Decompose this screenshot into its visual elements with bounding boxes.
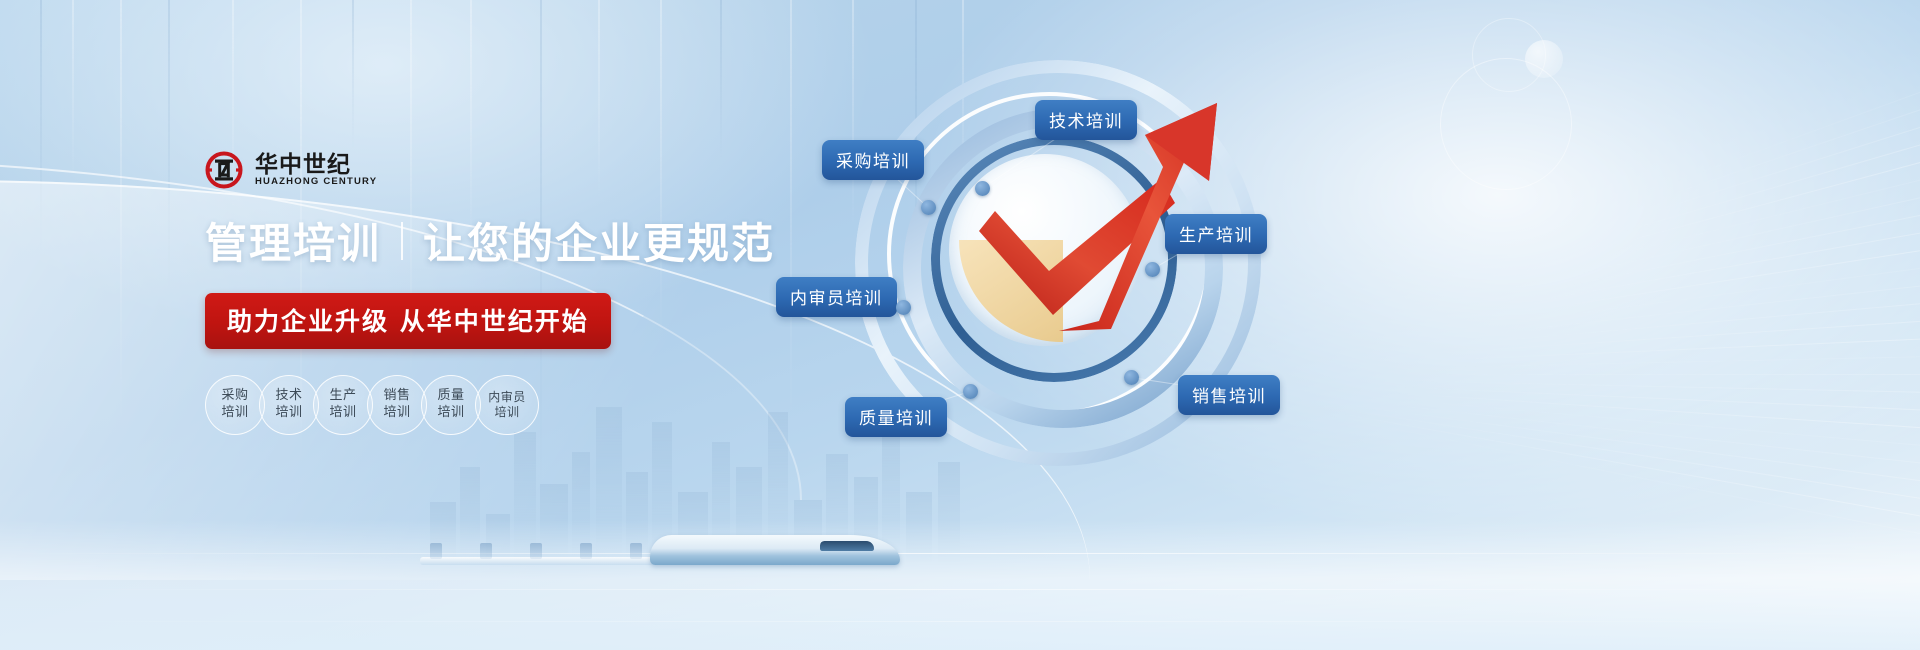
high-speed-train-icon [420,523,900,565]
circle-tag-5[interactable]: 质量培训 [421,375,481,435]
background-ray [1454,336,1920,360]
circle-tag-1[interactable]: 采购培训 [205,375,265,435]
circle-tag-4[interactable]: 销售培训 [367,375,427,435]
graphic-label-dot-1 [975,181,990,196]
circle-tag-line1: 生产 [329,388,356,405]
graphic-label-3[interactable]: 生产培训 [1165,214,1267,254]
graphic-label-dot-2 [921,200,936,215]
train-tie [580,543,592,559]
huazhong-circular-emblem-icon [205,151,243,189]
background-bar [352,0,354,150]
background-ray [1412,381,1920,394]
background-bar [720,0,722,160]
background-ray [1545,222,1920,300]
circle-tag-line1: 技术 [275,388,302,405]
light-orb-icon [1472,18,1546,92]
ground-line [0,553,1920,554]
graphic-label-1[interactable]: 技术培训 [1035,100,1137,140]
headline-part1: 管理培训 [205,210,381,271]
target-rings-graphic [845,35,1365,455]
graphic-label-dot-3 [1145,262,1160,277]
circle-tag-list: 采购培训技术培训生产培训销售培训质量培训内审员培训 [205,375,845,435]
circle-tag-line2: 培训 [494,405,519,420]
left-content: 华中世纪 HUAZHONG CENTURY 管理培训 让您的企业更规范 助力企业… [205,150,845,435]
graphic-label-5[interactable]: 销售培训 [1178,375,1280,415]
circle-tag-6[interactable]: 内审员培训 [475,375,539,435]
circle-tag-line1: 内审员 [488,390,526,405]
graphic-label-dot-6 [963,384,978,399]
graphic-label-2[interactable]: 采购培训 [822,140,924,180]
circle-tag-2[interactable]: 技术培训 [259,375,319,435]
graphic-label-dot-4 [896,300,911,315]
circle-tag-line1: 销售 [383,388,410,405]
headline-divider [401,222,403,260]
brand-logo[interactable]: 华中世纪 HUAZHONG CENTURY [205,150,845,190]
circle-tag-line2: 培训 [437,405,464,422]
circle-tag-line2: 培训 [221,405,248,422]
background-ray [1336,408,1920,508]
background-ray [1360,401,1920,470]
slogan-badge: 助力企业升级 从华中世纪开始 [205,293,611,349]
graphic-label-dot-5 [1124,370,1139,385]
banner-root: 华中世纪 HUAZHONG CENTURY 管理培训 让您的企业更规范 助力企业… [0,0,1920,650]
circle-tag-line1: 采购 [221,388,248,405]
brand-name-cn: 华中世纪 [255,152,377,176]
train-tie [480,543,492,559]
train-tie [430,543,442,559]
circle-tag-3[interactable]: 生产培训 [313,375,373,435]
ground-line [0,621,1920,622]
circle-tag-line2: 培训 [275,405,302,422]
circle-tag-line2: 培训 [383,405,410,422]
ground-line [0,589,1920,590]
ground-reflection [0,520,1920,650]
headline-part2: 让您的企业更规范 [423,210,775,271]
brand-name-en: HUAZHONG CENTURY [255,176,377,188]
circle-tag-line1: 质量 [437,388,464,405]
graphic-label-4[interactable]: 内审员培训 [776,277,897,317]
page-title: 管理培训 让您的企业更规范 [205,210,845,271]
graphic-label-6[interactable]: 质量培训 [845,397,947,437]
background-bar [72,0,74,180]
circle-tag-line2: 培训 [329,405,356,422]
train-tie [530,543,542,559]
background-ray [1426,374,1920,375]
train-tie [630,543,642,559]
